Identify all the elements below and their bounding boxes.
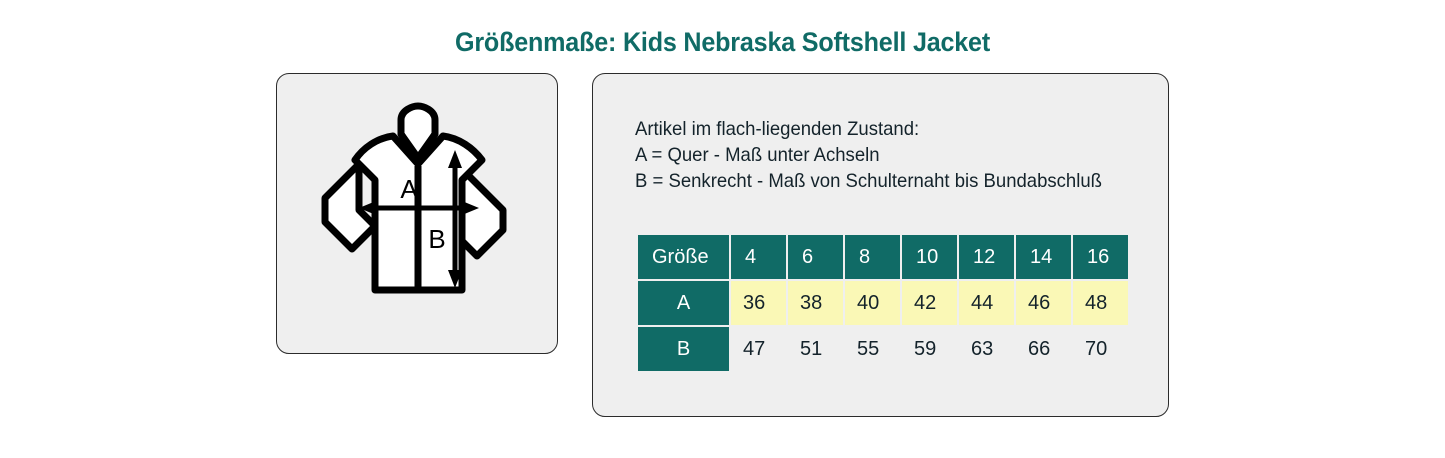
instructions-line-2: A = Quer - Maß unter Achseln xyxy=(635,142,1102,168)
size-table: Größe 4 6 8 10 12 14 16 A 36 38 40 42 44… xyxy=(636,233,1130,373)
table-row-header: Größe 4 6 8 10 12 14 16 xyxy=(638,235,1128,279)
instructions-line-3: B = Senkrecht - Maß von Schulternaht bis… xyxy=(635,168,1102,194)
jacket-flat-lay-icon: A B xyxy=(297,100,539,330)
table-header-size-2: 6 xyxy=(788,235,843,279)
table-header-size-4: 10 xyxy=(902,235,957,279)
measurement-instructions: Artikel im flach-liegenden Zustand: A = … xyxy=(635,116,1102,194)
table-cell-a-3: 40 xyxy=(845,281,900,325)
table-header-size-5: 12 xyxy=(959,235,1014,279)
table-cell-a-6: 46 xyxy=(1016,281,1071,325)
table-header-size-3: 8 xyxy=(845,235,900,279)
page-title: Größenmaße: Kids Nebraska Softshell Jack… xyxy=(51,27,1395,58)
table-row-label-b: B xyxy=(638,327,729,371)
table-cell-b-3: 55 xyxy=(845,327,900,371)
table-cell-a-4: 42 xyxy=(902,281,957,325)
table-header-size-7: 16 xyxy=(1073,235,1128,279)
table-header-size-6: 14 xyxy=(1016,235,1071,279)
diagram-label-a: A xyxy=(400,174,418,204)
table-cell-b-4: 59 xyxy=(902,327,957,371)
table-header-size-1: 4 xyxy=(731,235,786,279)
table-cell-b-6: 66 xyxy=(1016,327,1071,371)
table-cell-a-1: 36 xyxy=(731,281,786,325)
table-row-b: B 47 51 55 59 63 66 70 xyxy=(638,327,1128,371)
table-cell-a-7: 48 xyxy=(1073,281,1128,325)
illustration-panel: A B xyxy=(276,73,558,354)
table-cell-a-2: 38 xyxy=(788,281,843,325)
instructions-line-1: Artikel im flach-liegenden Zustand: xyxy=(635,116,1102,142)
measurements-panel: Artikel im flach-liegenden Zustand: A = … xyxy=(592,73,1169,417)
table-cell-b-7: 70 xyxy=(1073,327,1128,371)
table-corner-label: Größe xyxy=(638,235,729,279)
table-cell-b-2: 51 xyxy=(788,327,843,371)
table-row-label-a: A xyxy=(638,281,729,325)
table-cell-b-5: 63 xyxy=(959,327,1014,371)
diagram-label-b: B xyxy=(428,224,445,254)
table-cell-b-1: 47 xyxy=(731,327,786,371)
table-cell-a-5: 44 xyxy=(959,281,1014,325)
table-row-a: A 36 38 40 42 44 46 48 xyxy=(638,281,1128,325)
